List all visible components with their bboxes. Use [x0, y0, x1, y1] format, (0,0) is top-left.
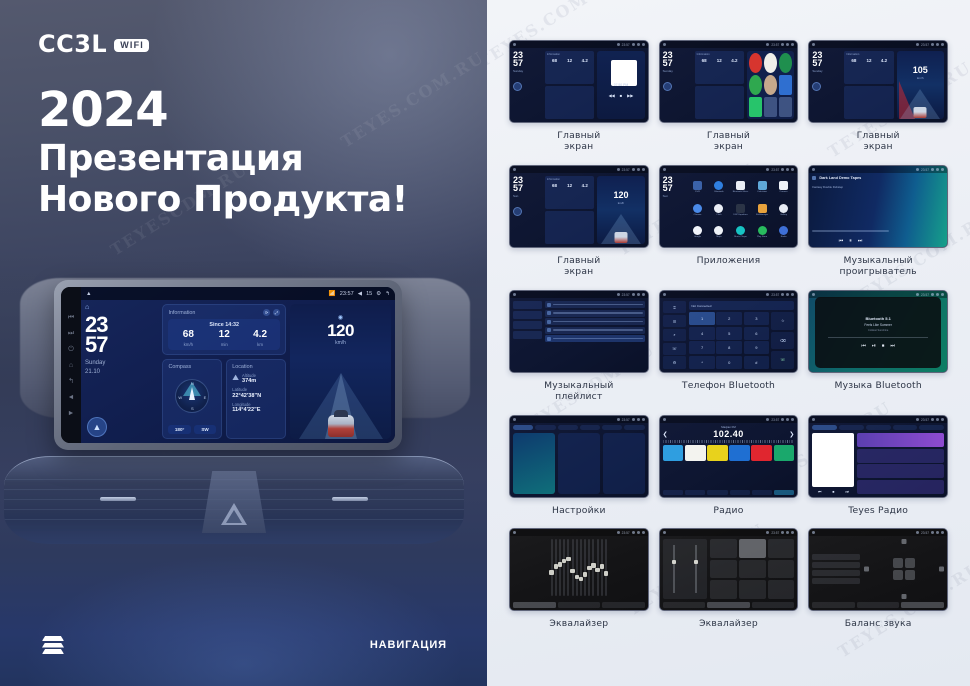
hero-headline-line1: Презентация: [38, 139, 408, 179]
settings-cards[interactable]: [510, 430, 648, 497]
equalizer-bands[interactable]: [510, 536, 648, 602]
gallery-caption: Телефон Bluetooth: [682, 380, 775, 392]
location-card[interactable]: Location ⛰ Altitude 374m: [226, 359, 286, 440]
key-next-icon[interactable]: ⏭: [68, 330, 74, 337]
balance-up-arrow[interactable]: [901, 539, 906, 544]
balance-preset[interactable]: [812, 554, 859, 560]
dial-key-6[interactable]: 6: [744, 327, 770, 340]
eq-band-slider[interactable]: [601, 539, 603, 596]
balance-preset[interactable]: [812, 570, 859, 576]
information-card-title: Information: [168, 310, 195, 316]
balance-right-arrow[interactable]: [939, 567, 944, 572]
thumb-status-time: 23:57: [622, 43, 630, 47]
gallery-item[interactable]: 23:57 Maxjian FM ❮ 102.40 ❯: [659, 415, 799, 516]
toolbar-item[interactable]: [663, 490, 683, 495]
eq-band-slider[interactable]: [551, 539, 553, 596]
app-icon-music-player[interactable]: Music Player: [731, 222, 751, 243]
gallery-item[interactable]: 23:57: [509, 415, 649, 516]
eq-band-slider[interactable]: [559, 539, 561, 596]
quick-apps-panel[interactable]: [747, 51, 794, 119]
balance-presets[interactable]: [812, 554, 859, 584]
hero-year: 2024: [38, 85, 408, 135]
prev-icon[interactable]: ⏮: [818, 489, 822, 494]
key-home-icon[interactable]: ⌂: [69, 362, 73, 369]
app-label: Camera: [780, 191, 788, 193]
air-vent-bar: [4, 456, 464, 544]
media-controls[interactable]: ⏮ ⏯ ⏹ ⏭: [861, 343, 895, 349]
gallery-caption: Главныйэкран: [707, 130, 750, 154]
thumb-status-time: 23:57: [771, 293, 779, 297]
dial-key-1[interactable]: 1: [689, 312, 715, 325]
thumb-status-time: 23:57: [921, 168, 929, 172]
dial-key-3[interactable]: 3: [744, 312, 770, 325]
settings-card-traffic[interactable]: [558, 433, 600, 494]
gallery-item[interactable]: 23:57 ⏮⏹⏭: [808, 415, 948, 516]
thumb-status-time: 23:57: [921, 531, 929, 535]
thumbnail-home-apps[interactable]: 23:57 23 57 Sunday Information68124.2: [659, 40, 799, 123]
playlist-row[interactable]: [545, 301, 645, 308]
trip-stat-value: 68: [170, 330, 206, 340]
app-label: Radio: [781, 236, 787, 238]
altitude-value: 374m: [242, 378, 256, 384]
thumb-clock-mm: 57: [663, 59, 692, 67]
gear-icon[interactable]: ⚙: [376, 291, 381, 297]
settings-tabs[interactable]: [510, 423, 648, 430]
clock-minutes: 57: [85, 335, 158, 355]
eq-band-slider[interactable]: [567, 539, 569, 596]
eq-band-slider[interactable]: [597, 539, 599, 596]
refresh-icon[interactable]: ⟳: [263, 309, 270, 316]
settings-card-more[interactable]: [603, 433, 645, 494]
station-row[interactable]: [857, 449, 944, 463]
slider[interactable]: [673, 545, 675, 593]
app-icon-bluetooth[interactable]: Bluetooth: [709, 177, 729, 198]
head-unit-side-keys[interactable]: ⏮ ⏭ ⏻ ⌂ ↰ ◄ ►: [61, 287, 81, 443]
eq-band-slider[interactable]: [588, 539, 590, 596]
thumb-clock-mm: 57: [513, 59, 542, 67]
key-power-icon[interactable]: ⏻: [68, 346, 74, 353]
gallery-caption: Эквалайзер: [549, 618, 608, 630]
gallery-caption: Музыка Bluetooth: [834, 380, 921, 392]
equalizer-tabs[interactable]: [510, 602, 648, 610]
sidebar-item-dialpad[interactable]: ⌗: [663, 301, 687, 313]
media-controls[interactable]: ◀◀■▶▶: [597, 93, 644, 98]
hero-panel: TEYESCDM.RU TEYES.COM.RU TEYESCDM.RU TEY…: [0, 0, 487, 686]
hero-headline: 2024 Презентация Нового Продукта!: [38, 85, 408, 220]
app-icon-dvr[interactable]: DVR: [688, 177, 708, 198]
key-vol-down-icon[interactable]: ◄: [68, 394, 75, 401]
app-icon-maps[interactable]: Maps: [709, 222, 729, 243]
balance-preset[interactable]: [812, 578, 859, 584]
radio-preset[interactable]: [774, 445, 795, 461]
equalizer-tabs[interactable]: [809, 602, 947, 610]
layers-icon[interactable]: [42, 636, 64, 654]
toolbar-item[interactable]: [752, 490, 772, 495]
vent-slider-left[interactable]: [100, 497, 136, 501]
thumb-status-time: 23:57: [771, 531, 779, 535]
tab-fader[interactable]: [857, 602, 900, 608]
tab-eq[interactable]: [663, 602, 706, 608]
tab-fader[interactable]: [558, 602, 601, 608]
station-list[interactable]: [857, 433, 944, 494]
toolbar-item[interactable]: [685, 490, 705, 495]
dial-key-0[interactable]: 0: [716, 356, 742, 369]
wifi-badge-icon: WIFI: [114, 39, 149, 52]
thumbnail-music-playlist[interactable]: 23:57: [509, 290, 649, 373]
compass-direction: SW: [194, 425, 216, 434]
radio-tuning-scale[interactable]: [663, 440, 795, 443]
thumbnail-equalizer-fader[interactable]: 23:57: [659, 528, 799, 611]
gallery-caption: Баланс звука: [845, 618, 912, 630]
preset-button-active[interactable]: [739, 539, 766, 558]
thumbnail-bt-music[interactable]: 23:57 Bluetooth 5.1 Feels Like Summer Co…: [808, 290, 948, 373]
stop-icon[interactable]: ⏹: [882, 343, 885, 349]
gallery-caption: Радио: [713, 505, 743, 517]
thumbnail-home-music[interactable]: 23:57 23 57 Sunday Information68124.2: [509, 40, 649, 123]
bt-track-artist: Coldest Sunshine: [868, 329, 888, 332]
thumb-music-track: Dark Land Demo Tapes: [819, 176, 861, 180]
playlist-sidebar[interactable]: [513, 301, 542, 369]
balance-down-arrow[interactable]: [901, 594, 906, 599]
thumbnail-teyes-radio[interactable]: 23:57 ⏮⏹⏭: [808, 415, 948, 498]
dial-key-8[interactable]: 8: [716, 341, 742, 354]
hazard-triangle-icon: [221, 503, 247, 525]
app-label: Gallery: [780, 214, 787, 216]
eq-band-slider[interactable]: [555, 539, 557, 596]
head-unit-screen[interactable]: ▲ 📶 23:57 ◀ 15 ⚙ ↰ ⌂ 23 57: [81, 287, 395, 443]
trip-stat-unit: min: [206, 342, 242, 347]
prev-icon[interactable]: ⏮: [861, 343, 866, 349]
pause-icon[interactable]: ⏸: [849, 238, 852, 244]
progress-bar[interactable]: [828, 337, 929, 338]
altitude-label: Altitude: [242, 373, 256, 378]
station-row-selected[interactable]: [857, 433, 944, 447]
trip-stat-value: 12: [206, 330, 242, 340]
expand-icon[interactable]: ⤢: [273, 309, 280, 316]
thumbnail-bt-phone[interactable]: 23:57 ⌗ ☰ ⌕ ☏ ⚙ Not Connected: [659, 290, 799, 373]
dial-key-7[interactable]: 7: [689, 341, 715, 354]
hazard-light-button[interactable]: [202, 471, 266, 533]
key-back-icon[interactable]: ↰: [68, 378, 74, 385]
gallery-item[interactable]: 23:57: [509, 290, 649, 403]
app-label: DSP Equalizer: [733, 214, 747, 216]
app-label: Chrome: [694, 214, 702, 216]
preset-button[interactable]: [768, 560, 795, 579]
clock-weekday: Sunday: [85, 359, 158, 367]
thumb-status-time: 23:57: [921, 293, 929, 297]
stop-icon[interactable]: ⏹: [832, 489, 834, 494]
app-label: Clock: [716, 214, 721, 216]
navigation-feature-label: НАВИГАЦИЯ: [370, 639, 447, 651]
thumb-nav-unit: km/h: [897, 76, 944, 80]
preset-button[interactable]: [710, 580, 737, 599]
balance-seat-pad[interactable]: [864, 539, 944, 599]
radio-prev-icon[interactable]: ❮: [663, 431, 668, 438]
tab-balance[interactable]: [752, 602, 795, 608]
compass-degrees: 180°: [168, 425, 190, 434]
gallery-caption: Главныйэкран: [857, 130, 900, 154]
app-icon-gallery[interactable]: Gallery: [774, 200, 794, 221]
navigation-speed-unit: km/h: [290, 340, 391, 346]
app-label: DVR: [695, 191, 700, 193]
playlist-row[interactable]: [545, 318, 645, 325]
app-icon-chrome[interactable]: Chrome: [688, 200, 708, 221]
tab-fader[interactable]: [707, 602, 750, 608]
thumb-clock-mm: 57: [812, 59, 841, 67]
eq-band-slider[interactable]: [563, 539, 565, 596]
station-artwork: [812, 433, 854, 487]
radio-preset[interactable]: [707, 445, 728, 461]
thumbnail-app-drawer[interactable]: 23:57 23 57 Sun DVR Bluetooth Bluetooth …: [659, 165, 799, 248]
fader-panel[interactable]: [660, 536, 798, 602]
thumbnail-equalizer-bands[interactable]: 23:57: [509, 528, 649, 611]
dial-key-star[interactable]: *: [689, 356, 715, 369]
dial-key-4[interactable]: 4: [689, 327, 715, 340]
app-label: Maps: [716, 236, 721, 238]
app-label: Google: [694, 236, 701, 238]
app-icon-radio[interactable]: Radio: [774, 222, 794, 243]
sidebar-item[interactable]: [513, 321, 542, 329]
media-controls[interactable]: ⏮⏹⏭: [812, 489, 854, 494]
radio-preset[interactable]: [751, 445, 772, 461]
tab-eq[interactable]: [812, 602, 855, 608]
equalizer-tabs[interactable]: [660, 602, 798, 610]
eq-band-slider[interactable]: [592, 539, 594, 596]
phone-sidebar[interactable]: ⌗ ☰ ⌕ ☏ ⚙: [663, 301, 687, 369]
eq-band-slider[interactable]: [572, 539, 574, 596]
toolbar-item[interactable]: [707, 490, 727, 495]
settings-card-wifi[interactable]: [513, 433, 555, 494]
status-wifi-icon: 📶: [329, 291, 336, 297]
preset-button[interactable]: [739, 560, 766, 579]
radio-toolbar[interactable]: [660, 490, 798, 497]
compass-label-w: W: [178, 395, 182, 400]
thumbnail-sound-balance[interactable]: 23:57: [808, 528, 948, 611]
eq-band-slider[interactable]: [576, 539, 578, 596]
longitude-label: Longitude: [232, 402, 280, 407]
thumb-clock-mm: 57: [663, 184, 684, 192]
thumb-clock-mm: 57: [513, 184, 542, 192]
gallery-item[interactable]: 23:57 23 57 Sunday Information68124.2: [509, 40, 649, 153]
gallery-item[interactable]: 23:57 Bluetooth 5.1 Feels Like Summer Co…: [808, 290, 948, 403]
favorite-icon[interactable]: ☆: [771, 312, 794, 330]
play-pause-icon[interactable]: ⏯: [872, 343, 876, 349]
sidebar-item-settings[interactable]: ⚙: [663, 356, 687, 368]
information-since-label: Since 14:32: [170, 322, 278, 328]
key-prev-icon[interactable]: ⏮: [68, 314, 74, 321]
radio-preset[interactable]: [663, 445, 684, 461]
compass-label-s: S: [191, 406, 194, 411]
trip-stats: 68 km/h 12 min 4.2: [170, 330, 278, 347]
gallery-caption: Главныйэкран: [557, 255, 600, 279]
radio-preset[interactable]: [729, 445, 750, 461]
gallery-item[interactable]: 23:57 23 57 Sun Information68124.2: [509, 165, 649, 278]
longitude-value: 114°4'22"E: [232, 407, 280, 413]
media-controls[interactable]: ⏮⏸⏭: [812, 238, 888, 244]
thumb-nav-speed: 105: [897, 65, 944, 75]
thumbnail-music-player[interactable]: 23:57 Dark Land Demo Tapes Fantasy Doubl…: [808, 165, 948, 248]
prev-icon[interactable]: ⏮: [839, 238, 844, 244]
thumb-status-time: 23:57: [622, 168, 630, 172]
preset-button[interactable]: [710, 560, 737, 579]
gallery-item[interactable]: 23:57 ⌗ ☰ ⌕ ☏ ⚙ Not Connected: [659, 290, 799, 403]
balance-panel[interactable]: [809, 536, 947, 602]
trip-stat-unit: km: [242, 342, 278, 347]
app-label: Bluetooth Music: [733, 191, 749, 193]
app-grid[interactable]: DVR Bluetooth Bluetooth Music Calculator…: [687, 176, 795, 244]
thumb-status-time: 23:57: [622, 418, 630, 422]
toolbar-item[interactable]: [730, 490, 750, 495]
teyes-radio-body[interactable]: ⏮⏹⏭: [809, 430, 947, 497]
head-unit-bezel: ⏮ ⏭ ⏻ ⌂ ↰ ◄ ► ▲ 📶 23:57 ◀ 15: [54, 280, 402, 450]
bt-track-title: Feels Like Summer: [864, 323, 891, 327]
gallery-item[interactable]: 23:57 23 57 Sunday Information68124.2: [808, 40, 948, 153]
progress-bar[interactable]: [812, 230, 888, 232]
gallery-grid: 23:57 23 57 Sunday Information68124.2: [509, 40, 948, 630]
app-icon-calculator[interactable]: Calculator: [752, 177, 772, 198]
playlist-row[interactable]: [545, 310, 645, 317]
tab-balance[interactable]: [602, 602, 645, 608]
screenshot-gallery: TEYES.COM.RU TEYES.COM.RU TEYESCDM.RU TE…: [487, 0, 970, 686]
thumbnail-home-nav-120[interactable]: 23:57 23 57 Sun Information68124.2: [509, 165, 649, 248]
thumb-music-artist: Fantasy Double Dubstep: [812, 185, 888, 189]
radio-presets[interactable]: [660, 445, 798, 461]
tab-eq[interactable]: [513, 602, 556, 608]
gallery-caption: Музыкальныйплейлист: [544, 380, 613, 404]
preset-keypad[interactable]: [710, 539, 794, 599]
compass-card[interactable]: Compass N S W E: [162, 359, 222, 440]
thumbnail-home-nav-105[interactable]: 23:57 23 57 Sunday Information68124.2: [808, 40, 948, 123]
sidebar-item-calls[interactable]: ☏: [663, 343, 687, 355]
thumb-status-time: 23:57: [622, 293, 630, 297]
back-arrow-icon[interactable]: ↰: [385, 291, 390, 297]
station-row[interactable]: [857, 480, 944, 494]
next-icon[interactable]: ⏭: [858, 238, 863, 244]
radio-next-icon[interactable]: ❯: [789, 431, 794, 438]
slider[interactable]: [695, 545, 697, 593]
dial-key-hash[interactable]: #: [744, 356, 770, 369]
product-model-text: CC3L: [38, 30, 107, 58]
thumb-status-time: 23:57: [771, 43, 779, 47]
gallery-item[interactable]: 23:57: [659, 528, 799, 629]
tab-balance[interactable]: [901, 602, 944, 608]
app-icon-clock[interactable]: Clock: [709, 200, 729, 221]
app-icon-bluetooth-music[interactable]: Bluetooth Music: [731, 177, 751, 198]
gallery-item[interactable]: 23:57: [509, 528, 649, 629]
app-icon-camera[interactable]: Camera: [774, 177, 794, 198]
thumb-nav-unit: km/h: [597, 201, 644, 205]
teyes-radio-tabs[interactable]: [809, 423, 947, 430]
eq-band-slider[interactable]: [605, 539, 607, 596]
preset-button[interactable]: [739, 580, 766, 599]
app-label: Music Player: [734, 236, 747, 238]
radio-frequency: 102.40: [671, 429, 787, 439]
latitude-label: Latitude: [232, 387, 280, 392]
gallery-item[interactable]: 23:57: [808, 528, 948, 629]
dial-key-5[interactable]: 5: [716, 327, 742, 340]
wifi-icon: ▲: [86, 291, 92, 297]
playlist-row[interactable]: [545, 327, 645, 334]
station-row[interactable]: [857, 464, 944, 478]
clock-date: 21.10: [85, 368, 158, 376]
call-icon[interactable]: ☏: [771, 351, 794, 369]
sidebar-item[interactable]: [513, 311, 542, 319]
playlist-now-playing-bar[interactable]: [545, 335, 645, 342]
thumb-status-time: 23:57: [921, 43, 929, 47]
app-label: Calculator: [757, 191, 767, 193]
playlist-rows[interactable]: [545, 301, 645, 369]
phone-number-field[interactable]: Not Connected: [689, 301, 794, 310]
sidebar-item-contacts[interactable]: ☰: [663, 315, 687, 327]
navigation-arrow-icon[interactable]: ▲: [87, 417, 107, 437]
home-icon[interactable]: ⌂: [85, 304, 158, 311]
latitude-value: 22°42'38"N: [232, 393, 280, 399]
status-time: 23:57: [340, 291, 354, 297]
volume-icon: ◀: [358, 291, 362, 297]
app-icon-google[interactable]: Google: [688, 222, 708, 243]
gallery-item[interactable]: 23:57 23 57 Sunday Information68124.2: [659, 40, 799, 153]
app-icon-dsp-equalizer[interactable]: DSP Equalizer: [731, 200, 751, 221]
compass-label-e: E: [204, 395, 207, 400]
next-icon[interactable]: ⏭: [845, 489, 849, 494]
sidebar-item[interactable]: [513, 331, 542, 339]
preset-button[interactable]: [768, 539, 795, 558]
dial-key-2[interactable]: 2: [716, 312, 742, 325]
navigation-speed: 120: [290, 322, 391, 339]
bluetooth-version-label: Bluetooth 5.1: [865, 316, 890, 321]
seat-grid: [893, 558, 915, 580]
eq-band-slider[interactable]: [580, 539, 582, 596]
app-icon-play-store[interactable]: Play Store: [752, 222, 772, 243]
dial-key-9[interactable]: 9: [744, 341, 770, 354]
next-icon[interactable]: ⏭: [890, 343, 895, 349]
vent-slider-right[interactable]: [332, 497, 368, 501]
toolbar-item-active[interactable]: [774, 490, 794, 495]
eq-band-slider[interactable]: [584, 539, 586, 596]
gallery-caption: Эквалайзер: [699, 618, 758, 630]
preset-button[interactable]: [710, 539, 737, 558]
key-vol-up-icon[interactable]: ►: [68, 410, 75, 417]
gallery-item[interactable]: 23:57 23 57 Sun DVR Bluetooth Bluetooth …: [659, 165, 799, 278]
sidebar-item[interactable]: [513, 301, 542, 309]
balance-preset[interactable]: [812, 562, 859, 568]
fader-sliders[interactable]: [663, 539, 708, 599]
thumbnail-settings[interactable]: 23:57: [509, 415, 649, 498]
app-label: Play Store: [757, 236, 767, 238]
status-volume-level: 15: [366, 291, 372, 297]
radio-preset[interactable]: [685, 445, 706, 461]
mountain-icon: ⛰: [232, 373, 239, 383]
information-card[interactable]: Information ⟳ ⤢ Since 14:32 68: [162, 304, 286, 355]
app-label: FileManager: [756, 214, 768, 216]
head-unit-status-bar: ▲ 📶 23:57 ◀ 15 ⚙ ↰: [81, 287, 395, 300]
balance-left-arrow[interactable]: [864, 567, 869, 572]
thumbnail-radio[interactable]: 23:57 Maxjian FM ❮ 102.40 ❯: [659, 415, 799, 498]
sidebar-item-search[interactable]: ⌕: [663, 329, 687, 341]
gallery-caption: Музыкальныйпроигрыватель: [840, 255, 917, 279]
preset-button[interactable]: [768, 580, 795, 599]
app-icon-filemanager[interactable]: FileManager: [752, 200, 772, 221]
thumb-status-time: 23:57: [921, 418, 929, 422]
dialpad[interactable]: 1 2 3 4 5 6 7 8 9 *: [689, 312, 769, 369]
gallery-caption: Приложения: [697, 255, 761, 267]
location-card-title: Location: [232, 364, 252, 370]
compass-dial: N S W E: [175, 379, 209, 413]
backspace-icon[interactable]: ⌫: [771, 332, 794, 350]
navigation-panel[interactable]: ◉ 120 km/h: [290, 304, 391, 439]
gallery-caption: Teyes Радио: [848, 505, 908, 517]
gallery-item[interactable]: 23:57 Dark Land Demo Tapes Fantasy Doubl…: [808, 165, 948, 278]
